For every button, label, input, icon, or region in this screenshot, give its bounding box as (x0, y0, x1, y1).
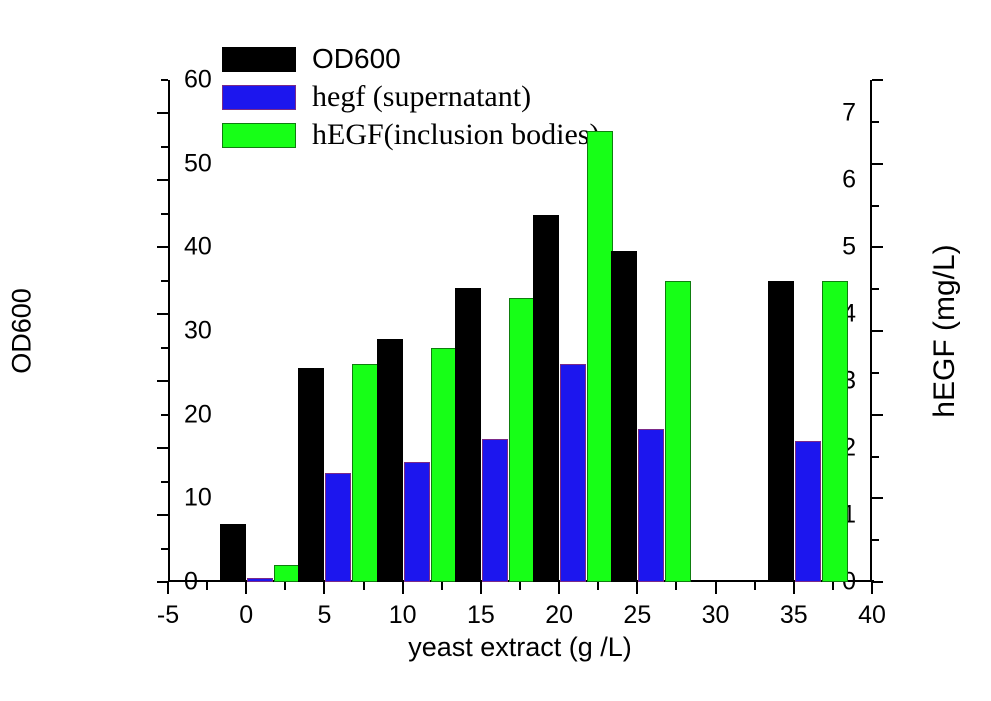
y-axis-right-tick (872, 79, 883, 81)
y-axis-right-tick (872, 330, 883, 332)
bar-green-10 (431, 348, 457, 582)
bar-blue-10 (404, 462, 430, 582)
y-axis-right-tick-label: 30 (184, 319, 212, 344)
bar-green-35 (822, 281, 848, 582)
x-axis-minor-tick (519, 582, 521, 590)
legend-item-od600: OD600 (222, 40, 599, 78)
bar-blue-15 (482, 439, 508, 582)
y-axis-title-right: hEGF (mg/L) (928, 244, 962, 417)
x-axis-tick-label: 20 (545, 603, 573, 628)
y-axis-right-tick (872, 497, 883, 499)
y-axis-left-tick (157, 447, 168, 449)
x-axis-tick-label: 15 (467, 603, 495, 628)
x-axis-minor-tick (832, 582, 834, 590)
x-axis-tick-label: 35 (780, 603, 808, 628)
x-axis-tick (402, 582, 404, 594)
y-axis-left-tick-label: 5 (842, 235, 856, 260)
y-axis-right-tick-label: 60 (184, 68, 212, 93)
x-axis-tick (245, 582, 247, 594)
y-axis-right-tick (872, 581, 883, 583)
bar-black-25 (611, 251, 637, 582)
y-axis-left-spine (168, 80, 170, 582)
x-axis-minor-tick (754, 582, 756, 590)
x-axis-tick (715, 582, 717, 594)
y-axis-left-minor-tick (161, 347, 168, 349)
bar-green-20 (587, 131, 613, 582)
bar-black-15 (455, 288, 481, 582)
y-axis-left-minor-tick (161, 481, 168, 483)
y-axis-left-minor-tick (161, 280, 168, 282)
y-axis-right-minor-tick (872, 288, 879, 290)
y-axis-left-tick (157, 380, 168, 382)
y-axis-left-minor-tick (161, 79, 168, 81)
x-axis-tick-label: 40 (858, 603, 886, 628)
bar-black-0 (220, 524, 246, 582)
x-axis-tick-label: 0 (239, 603, 253, 628)
y-axis-right-tick (872, 163, 883, 165)
y-axis-left-tick-label: 7 (842, 101, 856, 126)
bar-blue-20 (560, 364, 586, 582)
x-axis-tick (167, 582, 169, 594)
x-axis-tick-label: 30 (702, 603, 730, 628)
y-axis-right-minor-tick (872, 205, 879, 207)
x-axis-tick-label: 10 (389, 603, 417, 628)
bar-blue-5 (325, 473, 351, 582)
y-axis-left-tick (157, 179, 168, 181)
y-axis-right-minor-tick (872, 372, 879, 374)
bar-green-25 (665, 281, 691, 582)
y-axis-left-tick (157, 514, 168, 516)
y-axis-left-minor-tick (161, 548, 168, 550)
x-axis-minor-tick (363, 582, 365, 590)
x-axis-tick-label: 5 (317, 603, 331, 628)
bar-blue-25 (638, 429, 664, 582)
y-axis-right-tick-label: 0 (184, 570, 198, 595)
bar-blue-35 (795, 441, 821, 582)
y-axis-right-minor-tick (872, 121, 879, 123)
bar-blue-0 (247, 578, 273, 582)
legend-label-od600: OD600 (312, 43, 401, 75)
x-axis-minor-tick (206, 582, 208, 590)
y-axis-left-minor-tick (161, 414, 168, 416)
x-axis-minor-tick (675, 582, 677, 590)
x-axis-minor-tick (597, 582, 599, 590)
x-axis-tick-label: -5 (157, 603, 179, 628)
y-axis-left-tick (157, 313, 168, 315)
y-axis-title-left: OD600 (7, 288, 38, 374)
y-axis-right-tick (872, 414, 883, 416)
bar-black-10 (377, 339, 403, 582)
plot-area: 012345670102030405060-50510152025303540 (168, 80, 872, 582)
chart-figure: OD600 hegf (supernatant) hEGF(inclusion … (0, 0, 991, 701)
x-axis-tick (480, 582, 482, 594)
y-axis-right-tick-label: 50 (184, 151, 212, 176)
bar-black-35 (768, 281, 794, 582)
x-axis-tick (558, 582, 560, 594)
x-axis-minor-tick (441, 582, 443, 590)
y-axis-right-tick-label: 10 (184, 486, 212, 511)
y-axis-left-tick-label: 6 (842, 168, 856, 193)
bar-green-0 (274, 565, 300, 582)
y-axis-left-tick (157, 246, 168, 248)
x-axis-tick (793, 582, 795, 594)
x-axis-tick-label: 25 (623, 603, 651, 628)
x-axis-tick (323, 582, 325, 594)
y-axis-left-tick (157, 112, 168, 114)
bar-black-20 (533, 215, 559, 582)
x-axis-minor-tick (284, 582, 286, 590)
y-axis-right-tick (872, 246, 883, 248)
y-axis-right-tick-label: 20 (184, 402, 212, 427)
y-axis-left-minor-tick (161, 213, 168, 215)
y-axis-right-minor-tick (872, 456, 879, 458)
x-axis-tick (636, 582, 638, 594)
y-axis-right-tick-label: 40 (184, 235, 212, 260)
x-axis-title: yeast extract (g /L) (408, 632, 632, 663)
bar-black-5 (298, 368, 324, 582)
bar-green-15 (509, 298, 535, 582)
y-axis-left-minor-tick (161, 146, 168, 148)
bar-green-5 (352, 364, 378, 582)
y-axis-right-minor-tick (872, 539, 879, 541)
legend-swatch-od600 (222, 47, 296, 72)
x-axis-tick (871, 582, 873, 594)
